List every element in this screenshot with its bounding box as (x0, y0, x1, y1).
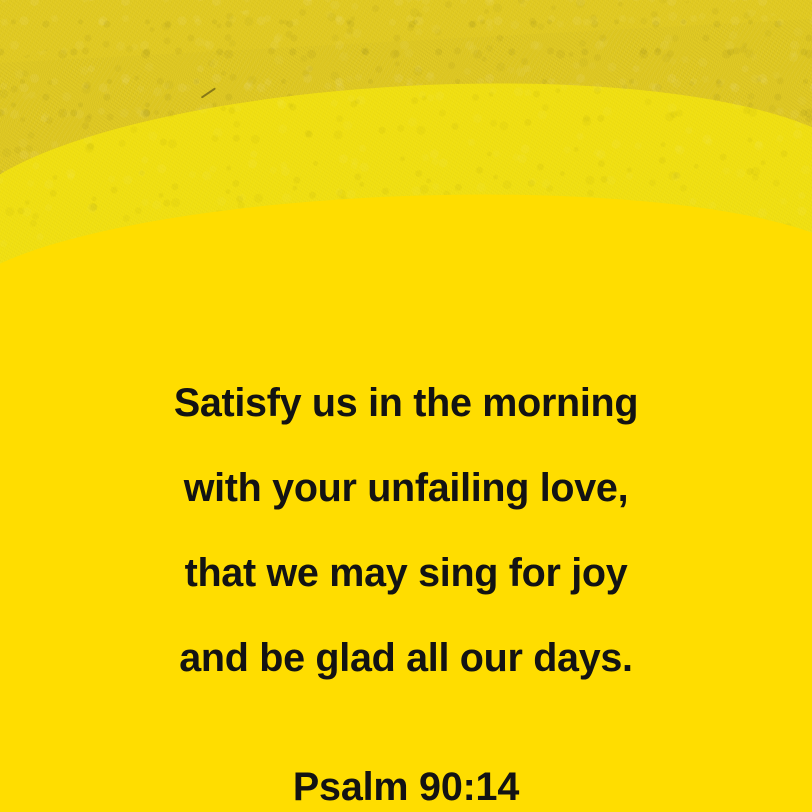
verse-line-2: with your unfailing love, (0, 467, 812, 509)
text-block: Satisfy us in the morning with your unfa… (0, 340, 812, 808)
verse-text: Satisfy us in the morning with your unfa… (0, 340, 812, 722)
verse-line-1: Satisfy us in the morning (0, 382, 812, 424)
verse-card: Satisfy us in the morning with your unfa… (0, 0, 812, 812)
verse-line-4: and be glad all our days. (0, 637, 812, 679)
scripture-reference: Psalm 90:14 (0, 722, 812, 808)
verse-line-3: that we may sing for joy (0, 552, 812, 594)
